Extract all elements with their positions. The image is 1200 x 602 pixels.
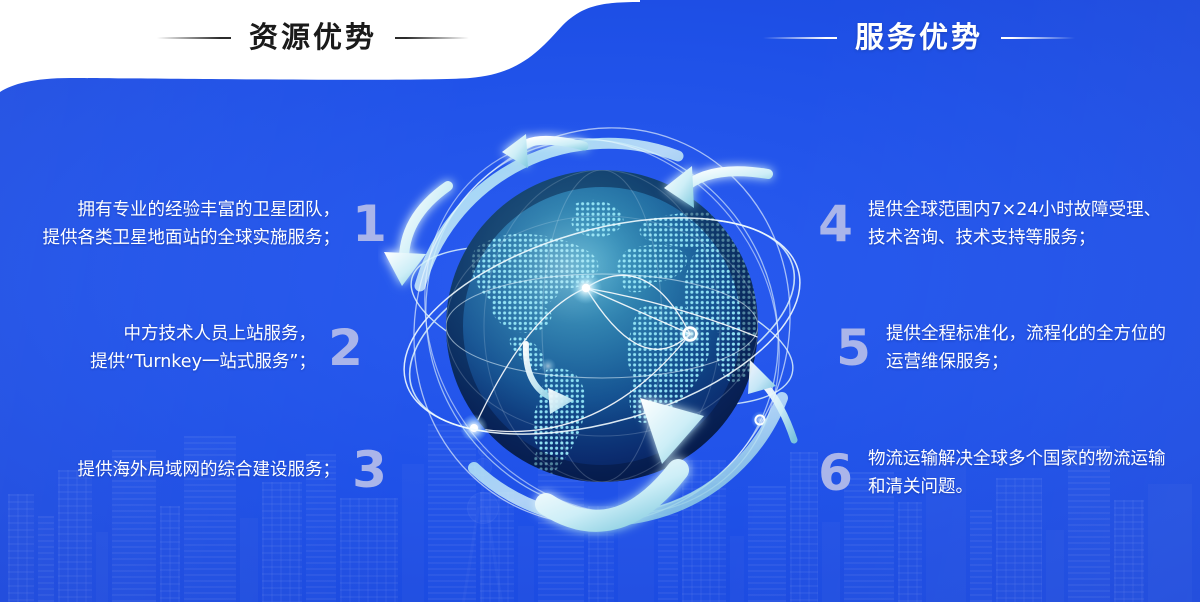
slide-canvas: 资源优势 服务优势 拥有专业的经验丰富的卫星团队， 提供各类卫星地面站的全球实施… [0,0,1200,602]
feature-item-2: 中方技术人员上站服务， 提供“Turnkey一站式服务”； 2 [0,320,368,377]
title-rule-left [157,37,231,39]
feature-text: 拥有专业的经验丰富的卫星团队， 提供各类卫星地面站的全球实施服务； [43,196,341,253]
feature-line: 提供海外局域网的综合建设服务； [78,456,341,484]
feature-item-1: 拥有专业的经验丰富的卫星团队， 提供各类卫星地面站的全球实施服务； 1 [0,196,392,253]
feature-line: 中方技术人员上站服务， [90,320,316,348]
title-rule-right [395,37,469,39]
section-title-right: 服务优势 [763,16,1075,60]
feature-item-3: 提供海外局域网的综合建设服务； 3 [0,445,392,495]
title-rule-right [1001,37,1075,39]
feature-item-5: 5 提供全程标准化，流程化的全方位的 运营维保服务； [830,320,1166,377]
page-title-right: 服务优势 [855,16,983,60]
feature-line: 运营维保服务； [886,348,1166,376]
feature-text: 中方技术人员上站服务， 提供“Turnkey一站式服务”； [90,320,316,377]
feature-line: 物流运输解决全球多个国家的物流运输 [868,445,1166,473]
feature-item-6: 6 物流运输解决全球多个国家的物流运输 和清关问题。 [812,445,1166,502]
feature-number: 1 [346,199,392,249]
feature-line: 提供全球范围内7×24小时故障受理、 [868,196,1161,224]
globe-network-illustration [378,98,826,546]
page-title-left: 资源优势 [249,16,377,60]
feature-line: 拥有专业的经验丰富的卫星团队， [43,196,341,224]
feature-text: 提供海外局域网的综合建设服务； [78,456,341,484]
feature-line: 提供各类卫星地面站的全球实施服务； [43,224,341,252]
feature-line: 技术咨询、技术支持等服务； [868,224,1161,252]
feature-line: 提供全程标准化，流程化的全方位的 [886,320,1166,348]
feature-item-4: 4 提供全球范围内7×24小时故障受理、 技术咨询、技术支持等服务； [812,196,1161,253]
feature-number: 2 [322,323,368,373]
section-title-left: 资源优势 [157,16,469,60]
title-rule-left [763,37,837,39]
feature-line: 提供“Turnkey一站式服务”； [90,348,316,376]
feature-number: 4 [812,199,858,249]
feature-number: 3 [346,445,392,495]
feature-text: 物流运输解决全球多个国家的物流运输 和清关问题。 [868,445,1166,502]
feature-number: 6 [812,448,858,498]
feature-number: 5 [830,323,876,373]
feature-text: 提供全球范围内7×24小时故障受理、 技术咨询、技术支持等服务； [868,196,1161,253]
feature-text: 提供全程标准化，流程化的全方位的 运营维保服务； [886,320,1166,377]
feature-line: 和清关问题。 [868,473,1166,501]
